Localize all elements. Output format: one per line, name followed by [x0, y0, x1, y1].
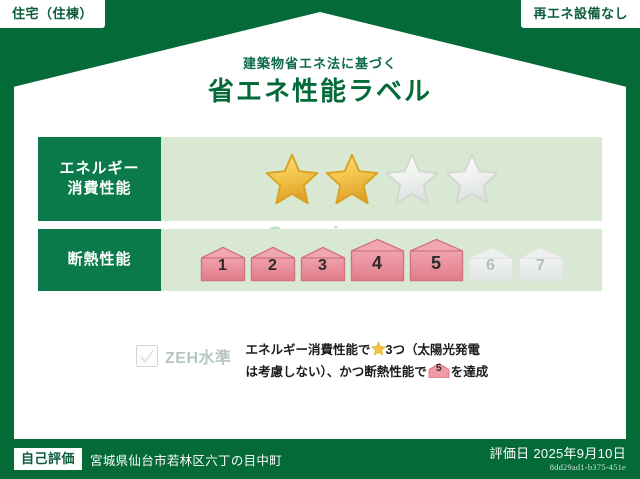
zeh-section: ZEH水準 エネルギー消費性能で 3つ（太陽光発電 は考慮しない）、かつ断熱性能…: [38, 336, 602, 384]
zeh-desc-part2: は考慮しない）、かつ断熱性能で: [246, 365, 427, 379]
insulation-grade-1: 1: [200, 246, 246, 282]
zeh-mark: ZEH水準: [38, 336, 232, 368]
zeh-description: エネルギー消費性能で 3つ（太陽光発電 は考慮しない）、かつ断熱性能で 5 を達…: [232, 336, 602, 384]
insulation-grade-5: 5: [409, 238, 464, 282]
row-energy-performance: エネルギー 消費性能: [38, 137, 602, 221]
footer: 自己評価 宮城県仙台市若林区六丁の目中町 評価日 2025年9月10日 8dd2…: [0, 439, 640, 479]
chip-building-type: 住宅（住棟）: [0, 0, 105, 28]
insulation-grade-4: 4: [350, 238, 405, 282]
star-rating: [265, 152, 499, 206]
page-title: 省エネ性能ラベル: [0, 75, 640, 109]
energy-label-root: 住宅（住棟） 再エネ設備なし 建築物省エネ法に基づく 省エネ性能ラベル Suma…: [0, 0, 640, 479]
inline-house-badge-value: 5: [428, 362, 450, 379]
performance-rows: エネルギー 消費性能 断熱性能 1234567: [38, 137, 602, 291]
row-label-insulation-text: 断熱性能: [67, 250, 131, 270]
self-evaluation-badge: 自己評価: [14, 448, 82, 470]
insulation-grade-2: 2: [250, 246, 296, 282]
footer-right: 評価日 2025年9月10日 8dd29ad1-b375-451e: [490, 446, 626, 473]
row-label-energy-line2: 消費性能: [67, 179, 131, 199]
evaluation-date: 評価日 2025年9月10日: [490, 446, 626, 462]
insulation-grade-6: 6: [468, 246, 514, 282]
insulation-grade-scale: 1234567: [200, 238, 564, 282]
star-empty-icon: [385, 152, 439, 206]
row-body-insulation: 1234567: [161, 229, 602, 291]
inline-house-badge-icon: 5: [428, 362, 450, 379]
insulation-grade-3: 3: [300, 246, 346, 282]
zeh-label: ZEH水準: [165, 344, 232, 368]
inline-star-icon: [371, 341, 386, 356]
footer-left: 自己評価 宮城県仙台市若林区六丁の目中町: [14, 448, 490, 470]
title-subtitle: 建築物省エネ法に基づく: [0, 56, 640, 72]
chip-renewable-energy: 再エネ設備なし: [521, 0, 640, 28]
row-label-energy: エネルギー 消費性能: [38, 137, 161, 221]
zeh-checkbox-icon: [136, 345, 158, 367]
row-body-energy: [161, 137, 602, 221]
zeh-desc-stars: 3つ（太陽光発電: [386, 343, 480, 357]
insulation-grade-7: 7: [518, 246, 564, 282]
star-filled-icon: [265, 152, 319, 206]
row-label-insulation: 断熱性能: [38, 229, 161, 291]
evaluation-id: 8dd29ad1-b375-451e: [490, 462, 626, 472]
property-address: 宮城県仙台市若林区六丁の目中町: [90, 450, 282, 469]
title-block: 建築物省エネ法に基づく 省エネ性能ラベル: [0, 56, 640, 108]
zeh-desc-part1: エネルギー消費性能で: [246, 343, 371, 357]
row-insulation-performance: 断熱性能 1234567: [38, 229, 602, 291]
zeh-desc-part3: を達成: [451, 365, 489, 379]
row-label-energy-line1: エネルギー: [59, 159, 139, 179]
star-filled-icon: [325, 152, 379, 206]
star-empty-icon: [445, 152, 499, 206]
